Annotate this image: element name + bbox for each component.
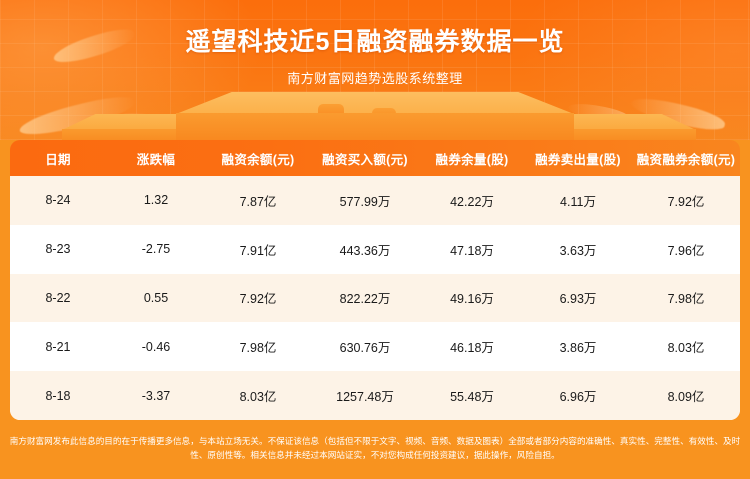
- cell-date: 8-18: [10, 389, 106, 403]
- cell-total-balance: 8.09亿: [632, 386, 740, 405]
- cell-short-sell: 3.86万: [524, 337, 632, 356]
- cell-margin-balance: 7.92亿: [206, 288, 310, 307]
- cell-change: -0.46: [106, 340, 206, 354]
- podium-center-block-front: [176, 113, 574, 140]
- cell-short-balance: 42.22万: [420, 191, 524, 210]
- page-title: 遥望科技近5日融资融券数据一览: [0, 22, 750, 58]
- margin-trading-table-card: 日期 涨跌幅 融资余额(元) 融资买入额(元) 融券余量(股) 融券卖出量(股)…: [10, 140, 740, 420]
- footer-disclaimer-bar: 南方财富网发布此信息的目的在于传播更多信息，与本站立场无关。不保证该信息（包括但…: [0, 428, 750, 479]
- cell-short-balance: 55.48万: [420, 386, 524, 405]
- cell-change: -3.37: [106, 389, 206, 403]
- cell-total-balance: 7.98亿: [632, 288, 740, 307]
- cell-short-sell: 6.96万: [524, 386, 632, 405]
- table-row[interactable]: 8-22 0.55 7.92亿 822.22万 49.16万 6.93万 7.9…: [10, 274, 740, 323]
- table-row[interactable]: 8-24 1.32 7.87亿 577.99万 42.22万 4.11万 7.9…: [10, 176, 740, 225]
- cell-short-balance: 46.18万: [420, 337, 524, 356]
- cell-short-sell: 3.63万: [524, 240, 632, 259]
- cell-margin-buy: 822.22万: [310, 288, 420, 307]
- table-header-short-sell: 融券卖出量(股): [524, 149, 632, 168]
- cell-total-balance: 7.92亿: [632, 191, 740, 210]
- cell-total-balance: 7.96亿: [632, 240, 740, 259]
- cell-short-balance: 49.16万: [420, 288, 524, 307]
- cell-change: -2.75: [106, 242, 206, 256]
- table-header-short-balance: 融券余量(股): [420, 149, 524, 168]
- cell-margin-buy: 1257.48万: [310, 386, 420, 405]
- table-header-margin-balance: 融资余额(元): [206, 149, 310, 168]
- cell-margin-balance: 8.03亿: [206, 386, 310, 405]
- cell-margin-buy: 443.36万: [310, 240, 420, 259]
- table-header-margin-buy: 融资买入额(元): [310, 149, 420, 168]
- cell-date: 8-24: [10, 193, 106, 207]
- table-header-total-balance: 融资融券余额(元): [632, 149, 740, 168]
- table-row[interactable]: 8-18 -3.37 8.03亿 1257.48万 55.48万 6.96万 8…: [10, 371, 740, 420]
- cell-margin-buy: 630.76万: [310, 337, 420, 356]
- table-body: 南方财富网 Southmoney.com 8-24 1.32 7.87亿 577…: [10, 176, 740, 420]
- cell-change: 1.32: [106, 193, 206, 207]
- cell-margin-balance: 7.87亿: [206, 191, 310, 210]
- page-banner: 遥望科技近5日融资融券数据一览 南方财富网趋势选股系统整理: [0, 0, 750, 140]
- cell-margin-buy: 577.99万: [310, 191, 420, 210]
- table-header-change: 涨跌幅: [106, 149, 206, 168]
- disclaimer-text: 南方财富网发布此信息的目的在于传播更多信息，与本站立场无关。不保证该信息（包括但…: [8, 434, 742, 462]
- cell-margin-balance: 7.91亿: [206, 240, 310, 259]
- cell-margin-balance: 7.98亿: [206, 337, 310, 356]
- cell-total-balance: 8.03亿: [632, 337, 740, 356]
- table-header-date: 日期: [10, 149, 106, 168]
- table-row[interactable]: 8-21 -0.46 7.98亿 630.76万 46.18万 3.86万 8.…: [10, 322, 740, 371]
- cell-short-sell: 4.11万: [524, 191, 632, 210]
- page-subtitle: 南方财富网趋势选股系统整理: [0, 68, 750, 87]
- cell-short-sell: 6.93万: [524, 288, 632, 307]
- table-row[interactable]: 8-23 -2.75 7.91亿 443.36万 47.18万 3.63万 7.…: [10, 225, 740, 274]
- cell-short-balance: 47.18万: [420, 240, 524, 259]
- table-header-row: 日期 涨跌幅 融资余额(元) 融资买入额(元) 融券余量(股) 融券卖出量(股)…: [10, 140, 740, 176]
- cell-change: 0.55: [106, 291, 206, 305]
- cell-date: 8-23: [10, 242, 106, 256]
- banner-podium-graphic: [0, 92, 750, 140]
- cell-date: 8-22: [10, 291, 106, 305]
- cell-date: 8-21: [10, 340, 106, 354]
